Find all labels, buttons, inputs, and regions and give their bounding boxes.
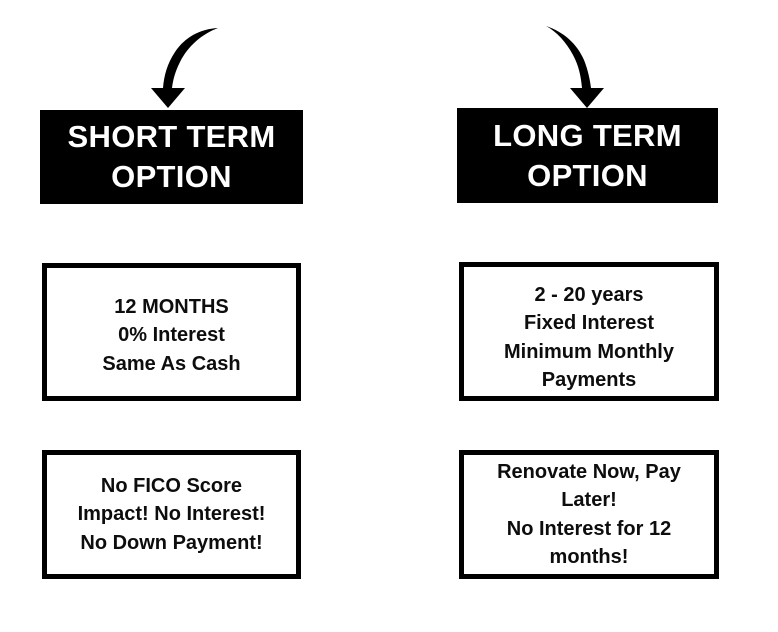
benefit-line: months!	[550, 543, 629, 571]
short-term-option-header: SHORT TERM OPTION	[40, 110, 303, 204]
curved-down-arrow-right-icon	[530, 20, 640, 110]
short-term-benefits-box: No FICO Score Impact! No Interest! No Do…	[42, 450, 301, 579]
header-line: SHORT TERM	[68, 117, 276, 157]
terms-line: 0% Interest	[118, 321, 225, 349]
short-term-terms-box: 12 MONTHS 0% Interest Same As Cash	[42, 263, 301, 401]
long-term-benefits-box: Renovate Now, Pay Later! No Interest for…	[459, 450, 719, 579]
terms-line: 12 MONTHS	[114, 293, 228, 321]
benefit-line: Later!	[561, 486, 617, 514]
curved-down-arrow-left-icon	[130, 20, 240, 110]
header-line: OPTION	[527, 156, 648, 196]
long-term-terms-box: 2 - 20 years Fixed Interest Minimum Mont…	[459, 262, 719, 401]
benefit-line: No Interest for 12	[507, 515, 671, 543]
terms-line: Fixed Interest	[524, 309, 654, 337]
benefit-line: Impact! No Interest!	[78, 500, 266, 528]
terms-line: 2 - 20 years	[535, 281, 644, 309]
long-term-option-header: LONG TERM OPTION	[457, 108, 718, 203]
benefit-line: No FICO Score	[101, 472, 242, 500]
comparison-graphic: SHORT TERM OPTION 12 MONTHS 0% Interest …	[0, 0, 778, 632]
terms-line: Payments	[542, 366, 637, 394]
header-line: OPTION	[111, 157, 232, 197]
benefit-line: Renovate Now, Pay	[497, 458, 681, 486]
benefit-line: No Down Payment!	[80, 529, 262, 557]
terms-line: Minimum Monthly	[504, 338, 674, 366]
header-line: LONG TERM	[493, 116, 682, 156]
terms-line: Same As Cash	[102, 350, 240, 378]
